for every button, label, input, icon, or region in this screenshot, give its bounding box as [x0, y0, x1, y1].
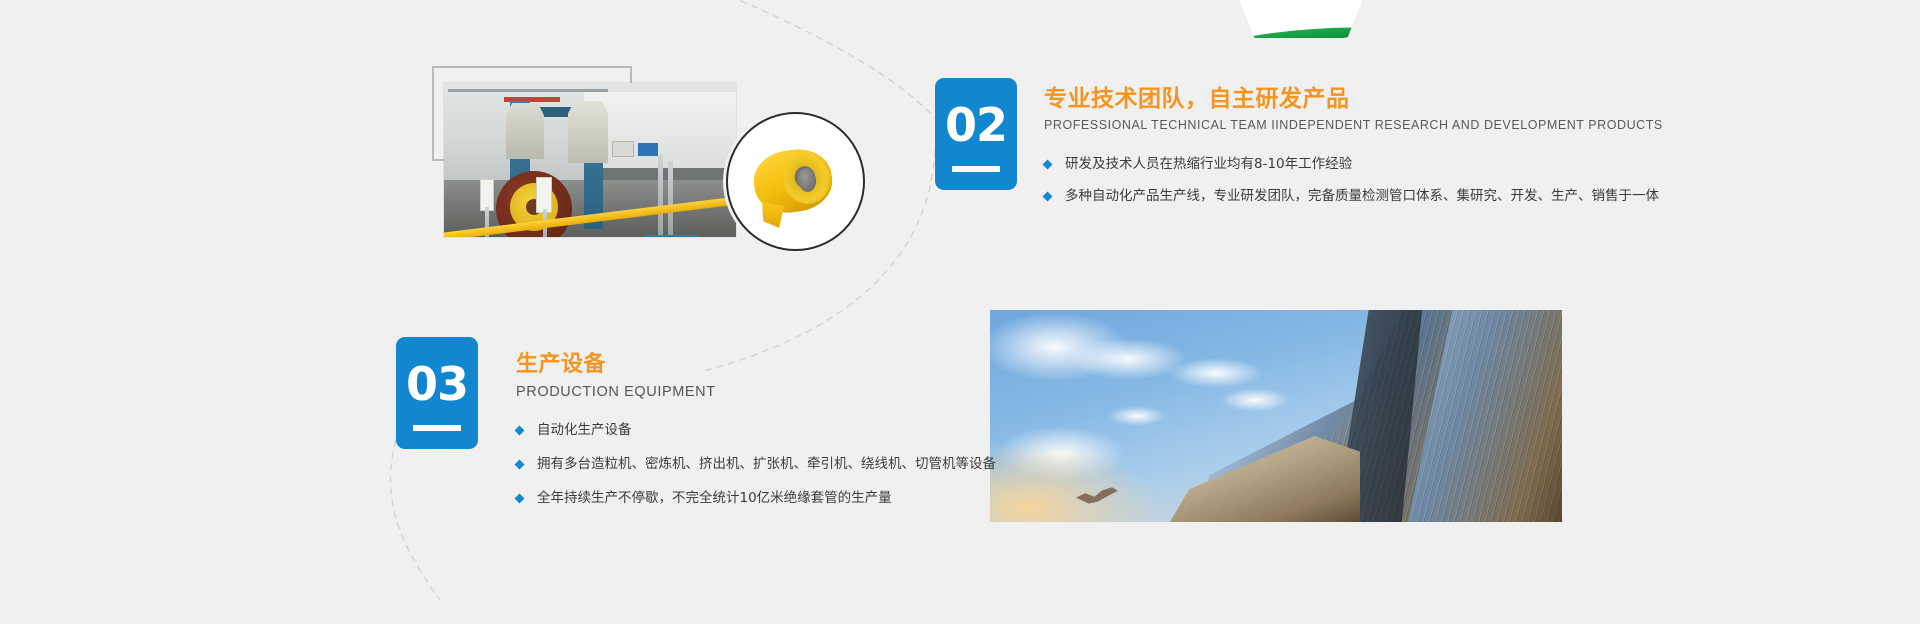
diamond-bullet-icon: [515, 459, 525, 469]
block-02-title-cn: 专业技术团队，自主研发产品: [1044, 86, 1764, 112]
mp-base-c: [644, 235, 700, 237]
list-item-label: 多种自动化产品生产线，专业研发团队，完备质量检测管口体系、集研究、开发、生产、销…: [1065, 186, 1659, 206]
mp-wall-sign: [638, 143, 658, 156]
tube-body: [1226, 0, 1376, 38]
block-03-title-en: PRODUCTION EQUIPMENT: [516, 384, 1156, 400]
badge-02-number: 02: [945, 102, 1007, 148]
badge-03: 03: [396, 337, 478, 449]
badge-03-number: 03: [406, 361, 468, 407]
block-03-bullet-list: 自动化生产设备 拥有多台造粒机、密炼机、挤出机、扩张机、牵引机、绕线机、切管机等…: [516, 420, 1156, 508]
bp-cloud-3: [1168, 358, 1264, 388]
tube-green-stripe: [1232, 24, 1371, 38]
tube-gloss: [1250, 0, 1319, 6]
list-item-label: 拥有多台造粒机、密炼机、挤出机、扩张机、牵引机、绕线机、切管机等设备: [537, 454, 996, 474]
block-02-bullet-list: 研发及技术人员在热缩行业均有8-10年工作经验 多种自动化产品生产线，专业研发团…: [1044, 154, 1764, 206]
tape-roll: [754, 150, 832, 212]
badge-02: 02: [935, 78, 1017, 190]
diamond-bullet-icon: [515, 493, 525, 503]
block-02-text: 专业技术团队，自主研发产品 PROFESSIONAL TECHNICAL TEA…: [1044, 86, 1764, 218]
badge-03-rule: [413, 425, 461, 431]
mp-pole-c: [658, 155, 663, 237]
machine-photo: [444, 83, 736, 237]
list-item-label: 研发及技术人员在热缩行业均有8-10年工作经验: [1065, 154, 1352, 174]
mp-head-left: [506, 103, 544, 159]
mp-wall-box: [612, 141, 634, 157]
list-item-label: 全年持续生产不停歇，不完全统计10亿米绝缘套管的生产量: [537, 488, 892, 508]
mp-head-right: [568, 101, 608, 163]
tape-circle-inset: [726, 112, 865, 251]
mp-pole-d: [668, 161, 673, 237]
connector-curve-03-down: [390, 440, 440, 600]
list-item: 自动化生产设备: [516, 420, 1156, 440]
bp-cloud-4: [1220, 388, 1290, 412]
block-03-text: 生产设备 PRODUCTION EQUIPMENT 自动化生产设备 拥有多台造粒…: [516, 352, 1156, 522]
list-item: 拥有多台造粒机、密炼机、挤出机、扩张机、牵引机、绕线机、切管机等设备: [516, 454, 1156, 474]
mp-ceiling-beam: [448, 89, 608, 92]
diamond-bullet-icon: [515, 425, 525, 435]
list-item: 研发及技术人员在热缩行业均有8-10年工作经验: [1044, 154, 1764, 174]
list-item-label: 自动化生产设备: [537, 420, 632, 440]
diamond-bullet-icon: [1043, 191, 1053, 201]
top-tube-image: [1218, 0, 1384, 38]
block-02-title-en: PROFESSIONAL TECHNICAL TEAM IINDEPENDENT…: [1044, 118, 1764, 132]
badge-02-rule: [952, 166, 1000, 172]
list-item: 全年持续生产不停歇，不完全统计10亿米绝缘套管的生产量: [516, 488, 1156, 508]
mp-control-panel-right: [536, 177, 552, 213]
block-03-title-cn: 生产设备: [516, 352, 1156, 378]
advantages-section: 02 专业技术团队，自主研发产品 PROFESSIONAL TECHNICAL …: [0, 0, 1920, 624]
diamond-bullet-icon: [1043, 159, 1053, 169]
tape-tail: [762, 202, 784, 228]
list-item: 多种自动化产品生产线，专业研发团队，完备质量检测管口体系、集研究、开发、生产、销…: [1044, 186, 1764, 206]
